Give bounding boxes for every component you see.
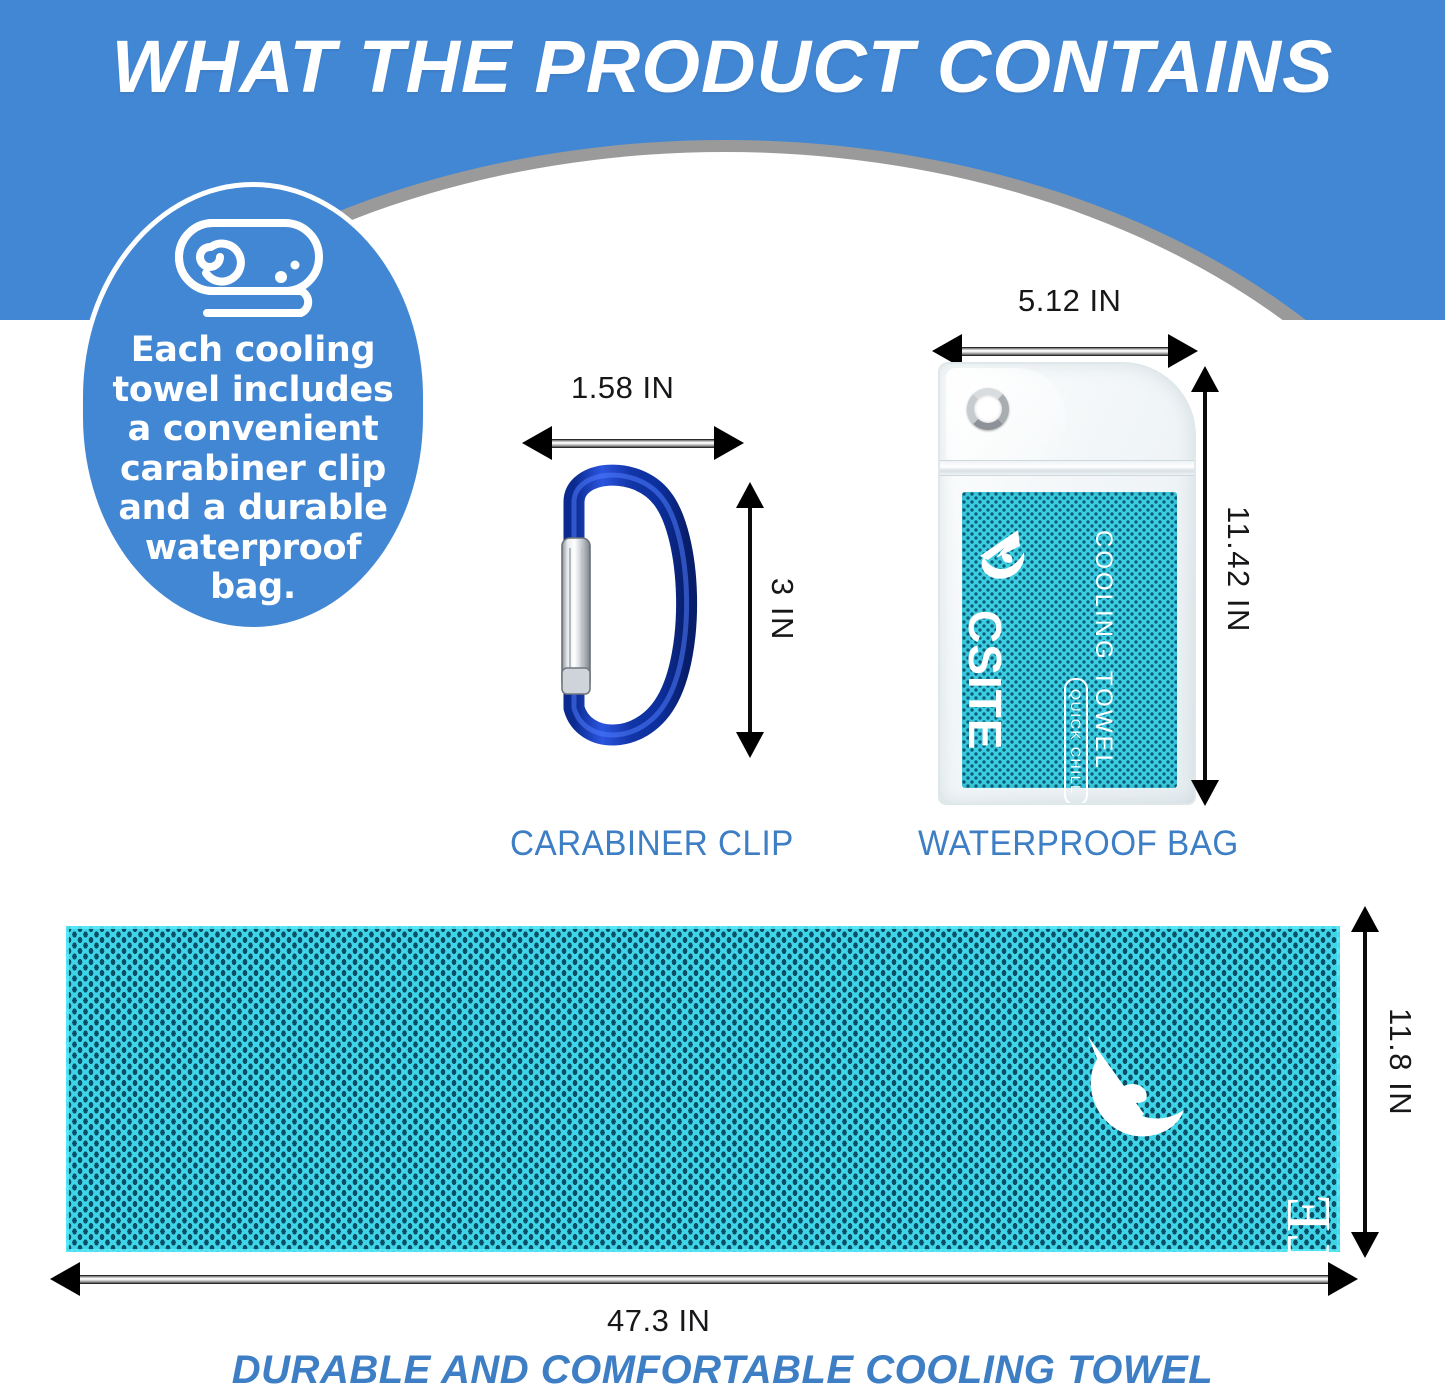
- arrow-shaft: [1203, 392, 1207, 780]
- arrow-shaft: [962, 347, 1168, 356]
- bag-towel-inside: CSITE COOLING TOWEL QUICK CHILL: [962, 492, 1177, 788]
- arrow-head-up: [1191, 366, 1219, 392]
- bag-width-label: 5.12 IN: [1018, 283, 1121, 319]
- bag-height-arrow: [1190, 366, 1220, 806]
- feature-badge: Each cooling towel includes a convenient…: [78, 182, 428, 632]
- arrow-head-down: [1351, 1232, 1379, 1258]
- towel-height-arrow: [1350, 906, 1380, 1258]
- carabiner-height-arrow: [735, 482, 765, 758]
- towel-width-arrow: [50, 1262, 1358, 1296]
- bag-grommet: [967, 388, 1009, 430]
- carabiner-height-label: 3 IN: [764, 578, 800, 641]
- towel-width-label: 47.3 IN: [607, 1303, 710, 1339]
- csite-logo-icon: [974, 526, 1036, 584]
- carabiner-clip-image: [540, 462, 715, 762]
- bag-cooling-towel-text: COOLING TOWEL: [1089, 530, 1117, 771]
- arrow-head-up: [736, 482, 764, 508]
- arrow-head-up: [1351, 906, 1379, 932]
- carabiner-caption: CARABINER CLIP: [510, 824, 794, 864]
- waterproof-bag-image: CSITE COOLING TOWEL QUICK CHILL: [938, 362, 1196, 805]
- arrow-head-right: [714, 426, 744, 460]
- bag-quick-chill-badge: QUICK CHILL: [1064, 678, 1088, 805]
- arrow-head-left: [50, 1262, 80, 1296]
- arrow-head-right: [1168, 334, 1198, 368]
- carabiner-width-label: 1.58 IN: [571, 370, 674, 406]
- infographic-page: WHAT THE PRODUCT CONTAINS Each cooling t…: [0, 0, 1445, 1399]
- arrow-head-down: [736, 732, 764, 758]
- page-title: WHAT THE PRODUCT CONTAINS: [0, 24, 1445, 109]
- arrow-head-left: [522, 426, 552, 460]
- badge-text: Each cooling towel includes a convenient…: [103, 331, 403, 608]
- bag-height-label: 11.42 IN: [1220, 506, 1256, 633]
- arrow-head-down: [1191, 780, 1219, 806]
- arrow-shaft: [748, 508, 752, 732]
- rolled-towel-icon: [173, 209, 333, 319]
- cooling-towel-image: CSITE: [66, 926, 1340, 1252]
- arrow-shaft: [552, 439, 714, 448]
- arrow-head-right: [1328, 1262, 1358, 1296]
- bag-caption: WATERPROOF BAG: [918, 824, 1239, 864]
- csite-logo-icon: [1080, 1018, 1212, 1168]
- arrow-shaft: [80, 1275, 1328, 1284]
- towel-height-label: 11.8 IN: [1382, 1008, 1418, 1116]
- bag-brand-text: CSITE: [958, 610, 1012, 750]
- carabiner-width-arrow: [522, 426, 744, 460]
- towel-caption: DURABLE AND COMFORTABLE COOLING TOWEL: [0, 1348, 1445, 1393]
- arrow-shaft: [1363, 932, 1367, 1232]
- bag-zipper: [940, 460, 1194, 476]
